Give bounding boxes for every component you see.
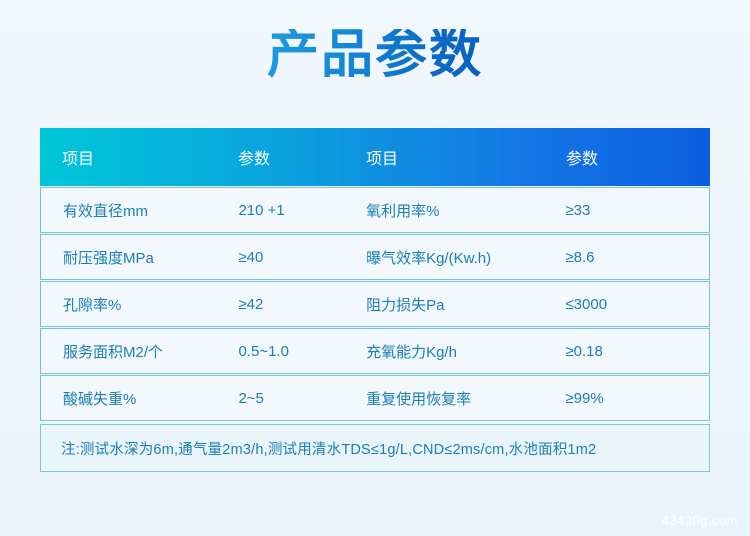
table-row: 耐压强度MPa ≥40 曝气效率Kg/(Kw.h) ≥8.6 [40, 234, 710, 280]
table-header-row: 项目 参数 项目 参数 [40, 128, 710, 186]
cell-item-2: 阻力损失Pa [366, 294, 565, 315]
cell-value-2: ≥99% [565, 390, 709, 407]
cell-value-1: 0.5~1.0 [238, 343, 366, 360]
page-title-container: 产品参数 [0, 0, 750, 110]
cell-item-1: 有效直径mm [41, 200, 238, 221]
table-header-cell-param-2: 参数 [566, 145, 710, 169]
table-header-cell-item-2: 项目 [366, 145, 566, 169]
table-header-cell-param-1: 参数 [238, 145, 366, 169]
cell-value-2: ≤3000 [565, 296, 709, 313]
table-row: 孔隙率% ≥42 阻力损失Pa ≤3000 [40, 281, 710, 327]
page-title: 产品参数 [267, 29, 483, 81]
cell-item-2: 曝气效率Kg/(Kw.h) [366, 247, 565, 268]
watermark: 43430g.com [661, 513, 738, 528]
table-header-cell-item-1: 项目 [40, 145, 238, 169]
cell-value-1: 210 +1 [238, 202, 366, 219]
cell-value-2: ≥0.18 [565, 343, 709, 360]
table-footnote-row: 注:测试水深为6m,通气量2m3/h,测试用清水TDS≤1g/L,CND≤2ms… [40, 424, 710, 472]
table-row: 酸碱失重% 2~5 重复使用恢复率 ≥99% [40, 375, 710, 421]
cell-value-2: ≥8.6 [565, 249, 709, 266]
table-row: 服务面积M2/个 0.5~1.0 充氧能力Kg/h ≥0.18 [40, 328, 710, 374]
cell-item-2: 重复使用恢复率 [366, 388, 565, 409]
cell-item-1: 耐压强度MPa [41, 247, 238, 268]
cell-item-1: 孔隙率% [41, 294, 238, 315]
table-row: 有效直径mm 210 +1 氧利用率% ≥33 [40, 187, 710, 233]
cell-value-2: ≥33 [565, 202, 709, 219]
cell-value-1: ≥40 [238, 249, 366, 266]
cell-item-1: 服务面积M2/个 [41, 341, 238, 362]
specifications-table: 项目 参数 项目 参数 有效直径mm 210 +1 氧利用率% ≥33 耐压强度… [40, 128, 710, 472]
cell-item-2: 充氧能力Kg/h [366, 341, 565, 362]
cell-value-1: 2~5 [238, 390, 366, 407]
table-footnote-text: 注:测试水深为6m,通气量2m3/h,测试用清水TDS≤1g/L,CND≤2ms… [41, 438, 596, 459]
cell-item-2: 氧利用率% [366, 200, 565, 221]
cell-value-1: ≥42 [238, 296, 366, 313]
cell-item-1: 酸碱失重% [41, 388, 238, 409]
